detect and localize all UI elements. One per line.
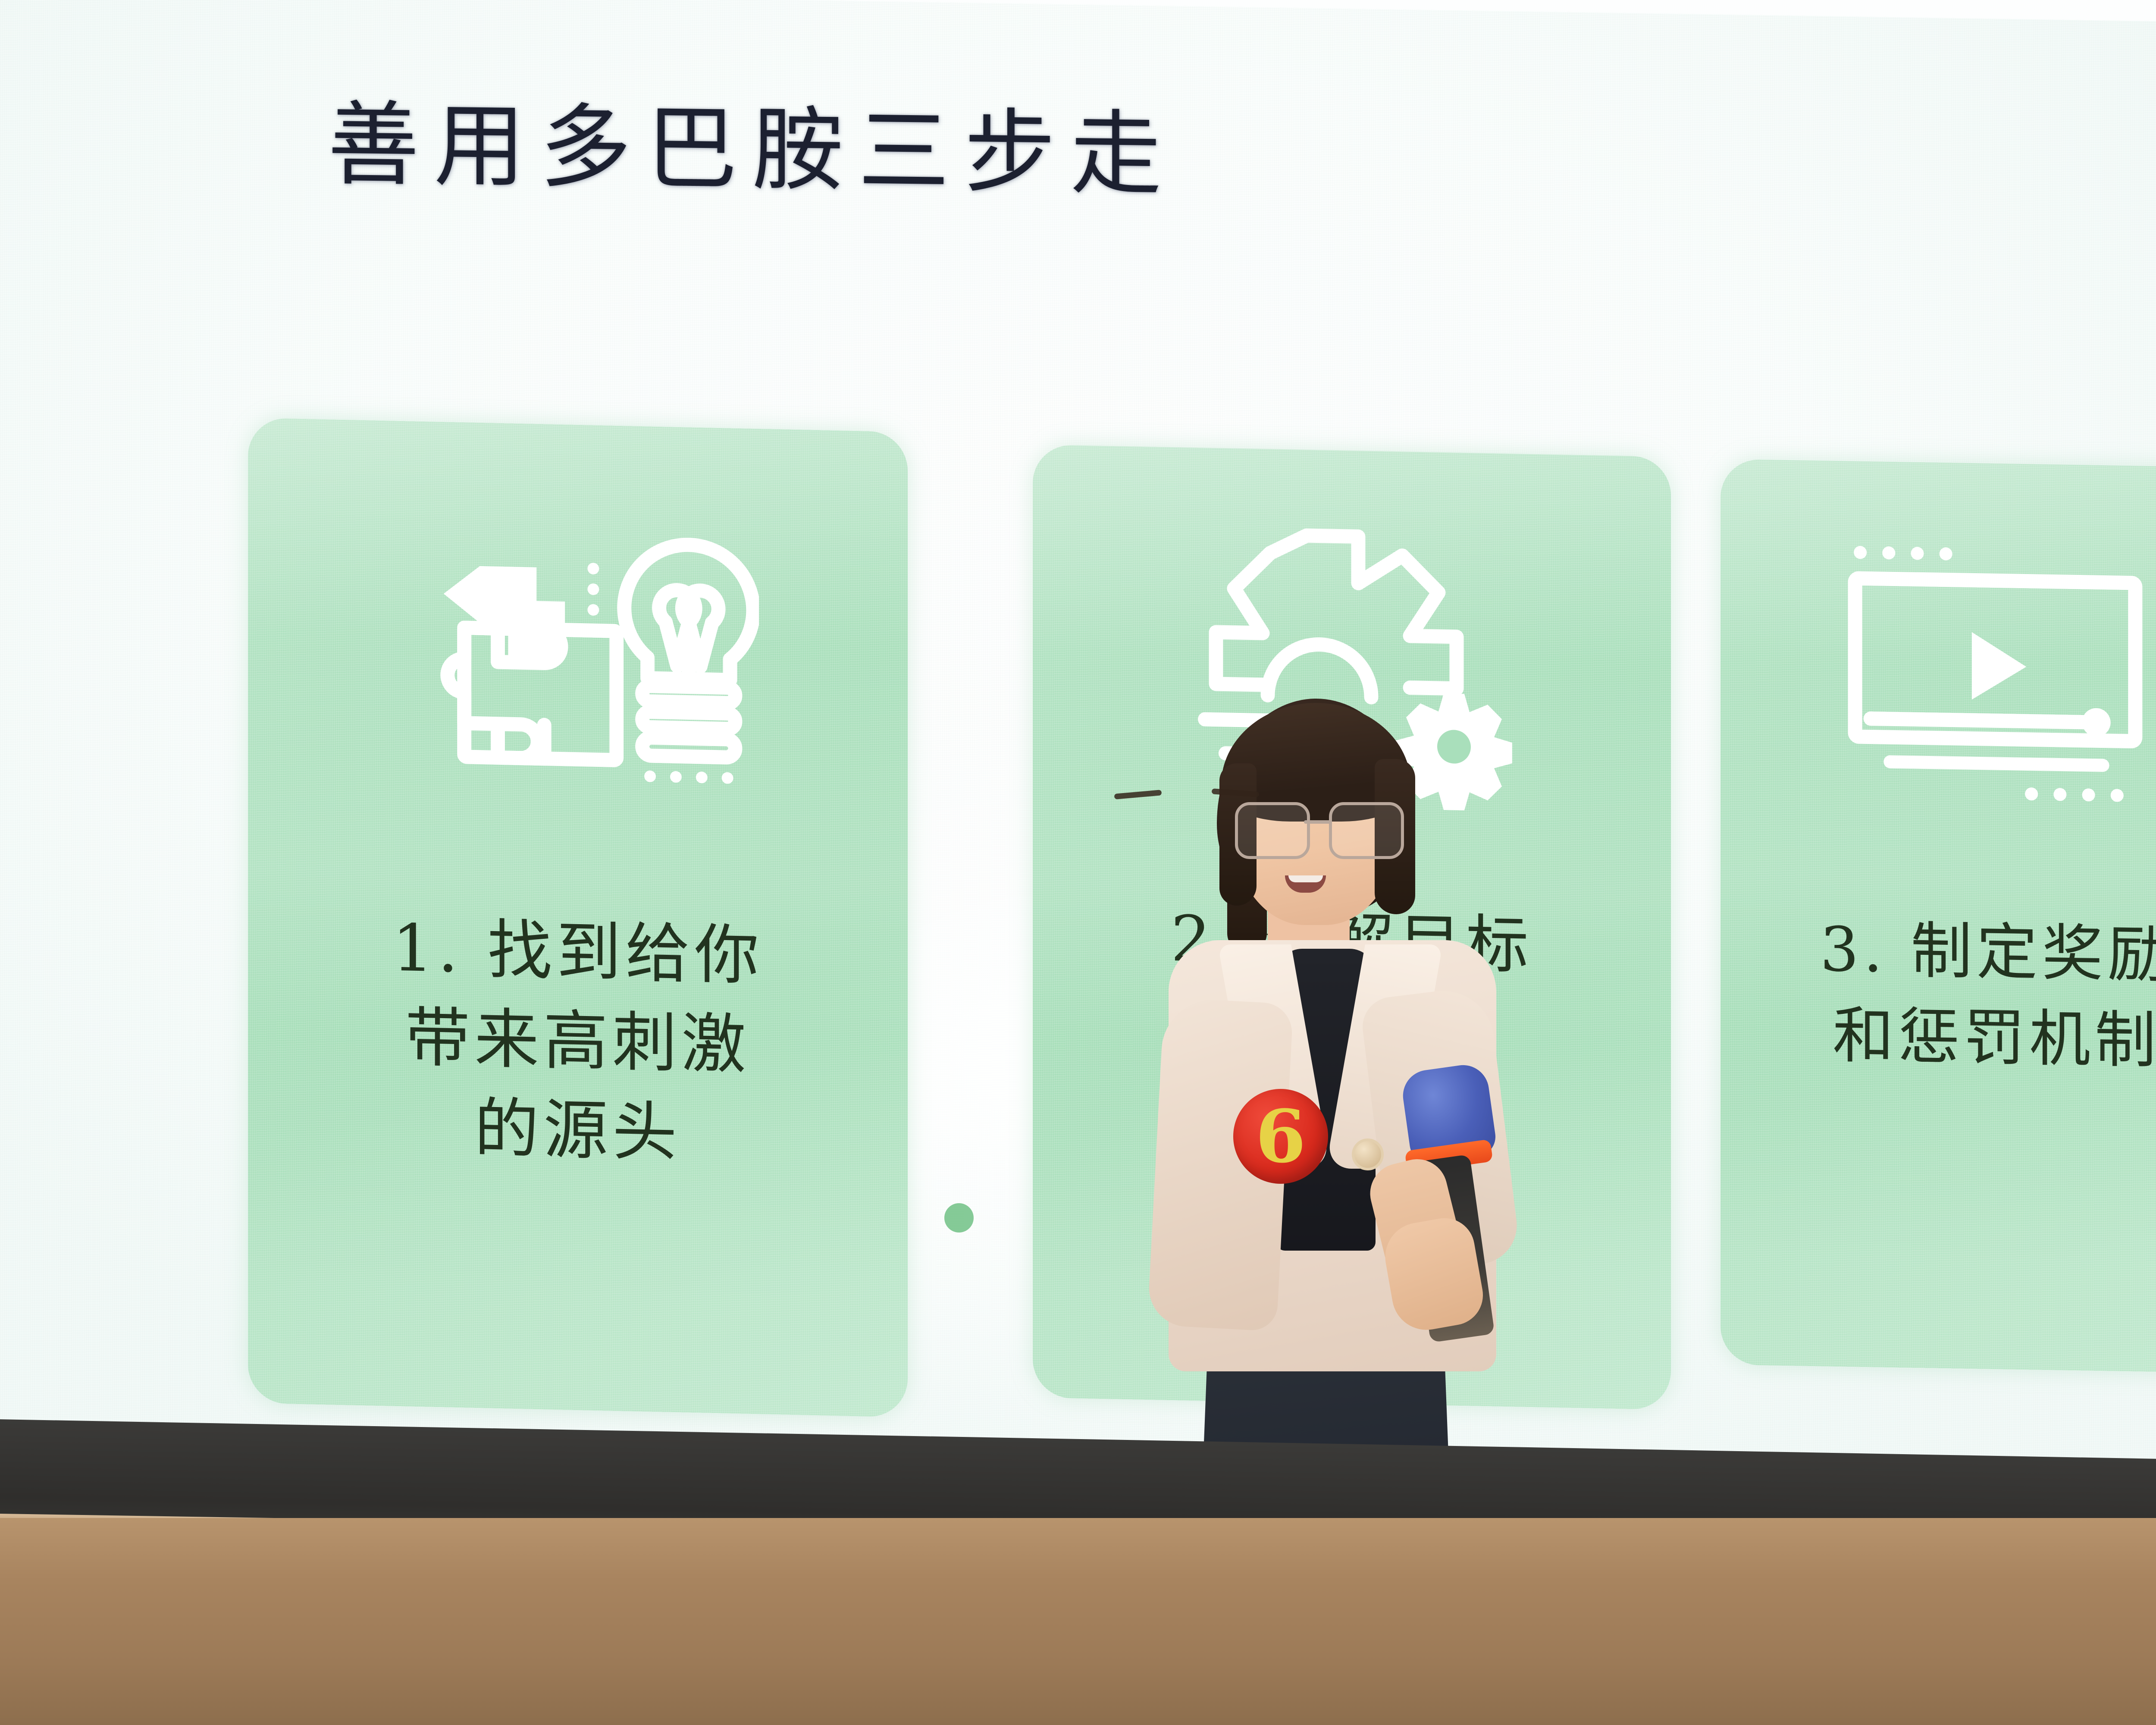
glasses-bridge [1304,820,1331,824]
speaker-eyebrow-left [1114,790,1162,800]
speaker-teeth [1288,875,1323,882]
badge-number: 6 [1256,1100,1306,1173]
screenshot-root: 善用多巴胺三步走 [0,0,2156,1725]
decorative-dot [944,1203,974,1233]
slide-card-1-text: 1. 找到给你 带来高刺激 的源头 [248,900,908,1182]
video-player-icon [1720,534,2156,811]
stage-floor [0,1518,2156,1725]
slide-card-3-text: 3. 制定奖励 和惩罚机制 [1720,905,2156,1086]
contestant-number-badge: 6 [1233,1089,1328,1184]
slide-card-3: 3. 制定奖励 和惩罚机制 [1720,459,2156,1374]
slide-cards-row: 1. 找到给你 带来高刺激 的源头 [0,0,2156,1466]
glasses-lens-left [1235,802,1310,859]
glasses-icon [1233,802,1401,856]
jacket-button [1352,1138,1384,1170]
puzzle-lightbulb-icon [248,514,908,856]
slide-card-1: 1. 找到给你 带来高刺激 的源头 [248,417,908,1417]
glasses-lens-right [1329,802,1404,859]
